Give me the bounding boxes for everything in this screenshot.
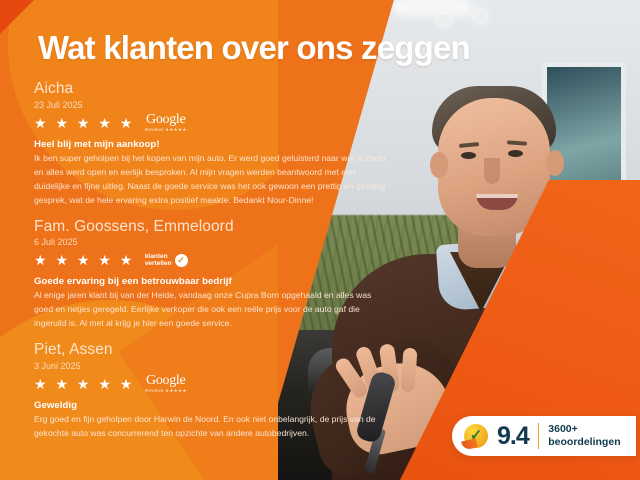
check-circle-icon: ✓ xyxy=(175,254,188,267)
kv-line-1: klanten xyxy=(145,253,172,260)
review-body: Al enige jaren klant bij van der Heide, … xyxy=(34,289,392,331)
star-rating-icon: ★ ★ ★ ★ ★ xyxy=(34,253,135,267)
reviewer-name: Fam. Goossens, Emmeloord xyxy=(34,218,434,236)
review-title: Goede ervaring bij een betrouwbaar bedri… xyxy=(34,276,434,287)
google-logo: Google Reviews ★★★★★ xyxy=(145,113,187,133)
reviews-list: Aicha 23 Juli 2025 ★ ★ ★ ★ ★ Google Revi… xyxy=(34,80,434,451)
review-rating-row: ★ ★ ★ ★ ★ Google Reviews ★★★★★ xyxy=(34,374,434,394)
review-item: Fam. Goossens, Emmeloord 6 Juli 2025 ★ ★… xyxy=(34,218,434,332)
klantenvertellen-wordmark: klanten vertellen xyxy=(145,253,172,268)
review-date: 6 Juli 2025 xyxy=(34,237,434,247)
google-reviews-sublabel: Reviews ★★★★★ xyxy=(145,128,187,133)
checkmark-glyph: ✓ xyxy=(470,428,483,443)
review-count: 3600+ xyxy=(548,423,620,436)
review-item: Piet, Assen 3 Juni 2025 ★ ★ ★ ★ ★ Google… xyxy=(34,341,434,441)
badge-divider xyxy=(538,423,540,449)
page-title: Wat klanten over ons zeggen xyxy=(38,31,470,66)
review-item: Aicha 23 Juli 2025 ★ ★ ★ ★ ★ Google Revi… xyxy=(34,80,434,208)
reviewer-name: Piet, Assen xyxy=(34,341,434,359)
google-logo: Google Reviews ★★★★★ xyxy=(145,374,187,394)
review-rating-row: ★ ★ ★ ★ ★ klanten vertellen ✓ xyxy=(34,250,434,270)
klantenvertellen-logo: klanten vertellen ✓ xyxy=(145,253,188,268)
review-date: 3 Juni 2025 xyxy=(34,361,434,371)
review-count-label: beoordelingen xyxy=(548,436,620,449)
overall-score-badge: ✓ 9.4 3600+ beoordelingen xyxy=(452,416,636,456)
review-rating-row: ★ ★ ★ ★ ★ Google Reviews ★★★★★ xyxy=(34,113,434,133)
google-wordmark: Google xyxy=(146,374,185,388)
star-rating-icon: ★ ★ ★ ★ ★ xyxy=(34,377,135,391)
kv-line-2: vertellen xyxy=(145,260,172,267)
score-value: 9.4 xyxy=(497,422,529,451)
verified-check-icon: ✓ xyxy=(464,424,488,448)
review-date: 23 Juli 2025 xyxy=(34,100,434,110)
banner-content: Wat klanten over ons zeggen Aicha 23 Jul… xyxy=(0,0,640,480)
review-body: Ik ben super geholpen bij het kopen van … xyxy=(34,152,392,208)
review-title: Heel blij met mijn aankoop! xyxy=(34,139,434,150)
review-title: Geweldig xyxy=(34,400,434,411)
star-rating-icon: ★ ★ ★ ★ ★ xyxy=(34,116,135,130)
google-reviews-sublabel: Reviews ★★★★★ xyxy=(145,389,187,394)
testimonial-banner: VDH Wat klanten over ons zeggen Aicha 23… xyxy=(0,0,640,480)
reviewer-name: Aicha xyxy=(34,80,434,98)
score-count-block: 3600+ beoordelingen xyxy=(548,423,620,448)
review-body: Erg goed en fijn geholpen door Harwin de… xyxy=(34,413,392,441)
google-wordmark: Google xyxy=(146,113,185,127)
